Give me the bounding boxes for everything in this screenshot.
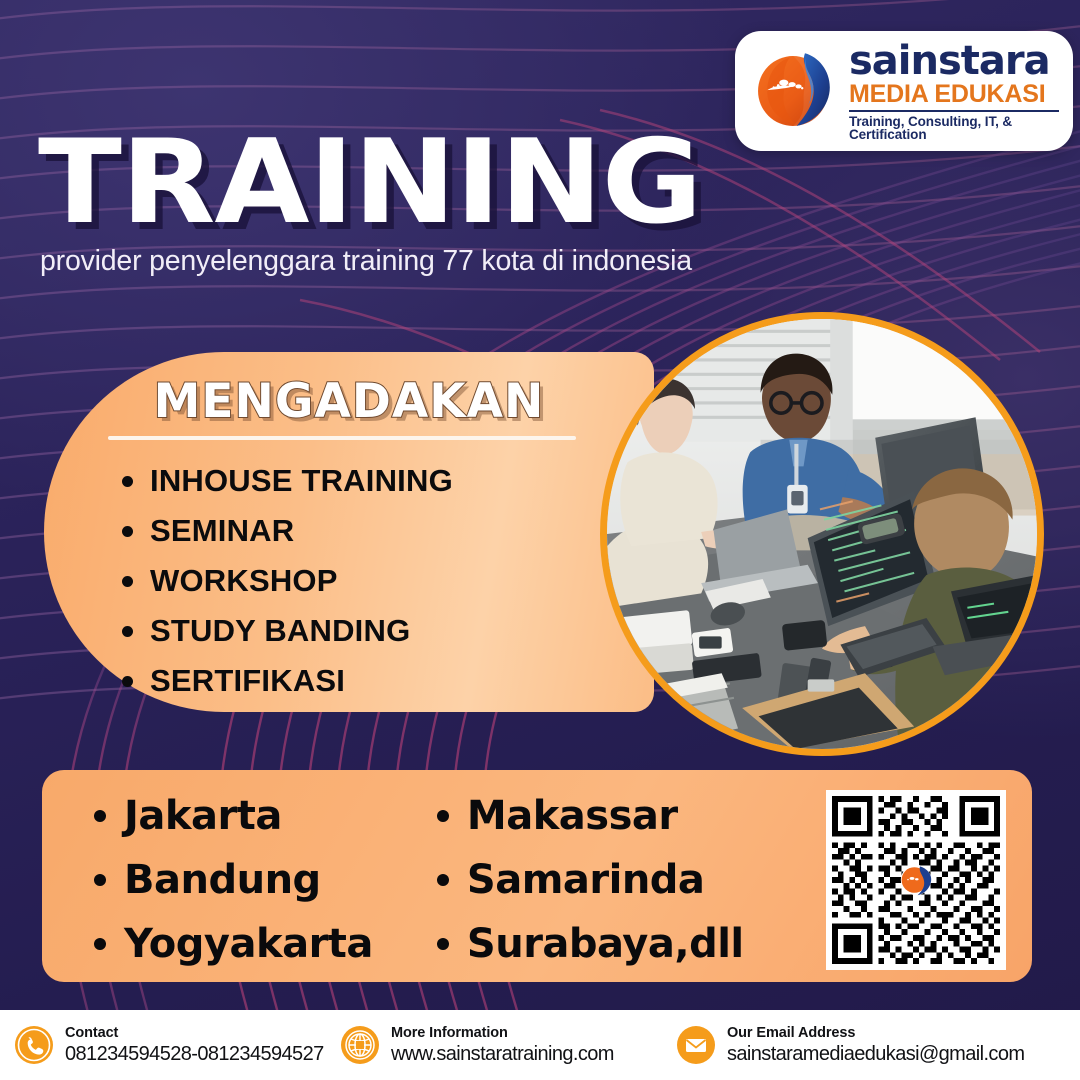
brand-logo-panel: sainstara MEDIA EDUKASI Training, Consul… xyxy=(735,31,1073,151)
footer-email-label: Our Email Address xyxy=(727,1024,1024,1042)
footer-email-item[interactable]: Our Email Address sainstaramediaedukasi@… xyxy=(676,1024,1024,1066)
offer-item-label: WORKSHOP xyxy=(150,563,338,599)
offer-item-label: SERTIFIKASI xyxy=(150,663,345,699)
bullet-dot-icon xyxy=(437,874,449,886)
bullet-dot-icon xyxy=(122,576,133,587)
list-item: STUDY BANDING xyxy=(122,606,634,656)
list-item: Jakarta xyxy=(94,792,373,841)
footer-website-value: www.sainstaratraining.com xyxy=(391,1042,614,1066)
brand-name: sainstara xyxy=(849,41,1059,81)
brand-divider xyxy=(849,110,1059,112)
qr-center-logo-icon xyxy=(896,860,936,900)
footer-website-text: More Information www.sainstaratraining.c… xyxy=(391,1024,614,1066)
list-item: WORKSHOP xyxy=(122,556,634,606)
list-item: Yogyakarta xyxy=(94,920,373,969)
brand-tagline: Training, Consulting, IT, & Certificatio… xyxy=(849,115,1059,142)
footer-contact-label: Contact xyxy=(65,1024,324,1042)
brand-wordmark: sainstara MEDIA EDUKASI Training, Consul… xyxy=(849,41,1059,142)
bullet-dot-icon xyxy=(437,810,449,822)
offer-card: MENGADAKAN INHOUSE TRAINING SEMINAR WORK… xyxy=(44,352,654,712)
city-label: Yogyakarta xyxy=(124,920,373,969)
footer-website-item[interactable]: More Information www.sainstaratraining.c… xyxy=(340,1024,670,1066)
team-photo xyxy=(600,312,1044,756)
bullet-dot-icon xyxy=(437,938,449,950)
list-item: SEMINAR xyxy=(122,506,634,556)
bullet-dot-icon xyxy=(122,626,133,637)
offer-service-list: INHOUSE TRAINING SEMINAR WORKSHOP STUDY … xyxy=(122,456,634,706)
footer-email-value: sainstaramediaedukasi@gmail.com xyxy=(727,1042,1024,1066)
city-label: Jakarta xyxy=(124,792,282,841)
bullet-dot-icon xyxy=(122,526,133,537)
bullet-dot-icon xyxy=(94,938,106,950)
footer-contact-bar: Contact 081234594528-081234594527 xyxy=(0,1010,1080,1080)
cities-column-left: Jakarta Bandung Yogyakarta xyxy=(94,792,373,968)
bullet-dot-icon xyxy=(122,676,133,687)
list-item: Makassar xyxy=(437,792,744,841)
brand-subname: MEDIA EDUKASI xyxy=(849,82,1059,107)
city-label: Makassar xyxy=(467,792,678,841)
footer-contact-value: 081234594528-081234594527 xyxy=(65,1042,324,1066)
cities-column-right: Makassar Samarinda Surabaya,dll xyxy=(437,792,744,968)
footer-contact-item[interactable]: Contact 081234594528-081234594527 xyxy=(14,1024,334,1066)
offer-item-label: STUDY BANDING xyxy=(150,613,410,649)
bullet-dot-icon xyxy=(94,874,106,886)
list-item: INHOUSE TRAINING xyxy=(122,456,634,506)
bullet-dot-icon xyxy=(122,476,133,487)
footer-website-label: More Information xyxy=(391,1024,614,1042)
flame-indonesia-logo-icon xyxy=(747,45,839,137)
offer-card-divider xyxy=(108,436,576,440)
qr-code[interactable] xyxy=(826,790,1006,970)
offer-card-title: MENGADAKAN xyxy=(44,374,654,429)
envelope-icon xyxy=(676,1025,716,1065)
city-label: Surabaya,dll xyxy=(467,920,744,969)
page-subtitle: provider penyelenggara training 77 kota … xyxy=(40,245,692,278)
cities-columns: Jakarta Bandung Yogyakarta Makassar xyxy=(94,792,744,968)
page-title: TRAINING xyxy=(38,125,701,241)
footer-email-text: Our Email Address sainstaramediaedukasi@… xyxy=(727,1024,1024,1066)
poster-canvas: sainstara MEDIA EDUKASI Training, Consul… xyxy=(0,0,1080,1080)
phone-icon xyxy=(14,1025,54,1065)
offer-item-label: INHOUSE TRAINING xyxy=(150,463,453,499)
city-label: Bandung xyxy=(124,856,321,905)
list-item: SERTIFIKASI xyxy=(122,656,634,706)
bullet-dot-icon xyxy=(94,810,106,822)
globe-icon xyxy=(340,1025,380,1065)
footer-contact-text: Contact 081234594528-081234594527 xyxy=(65,1024,324,1066)
city-label: Samarinda xyxy=(467,856,705,905)
list-item: Surabaya,dll xyxy=(437,920,744,969)
list-item: Bandung xyxy=(94,856,373,905)
offer-item-label: SEMINAR xyxy=(150,513,294,549)
list-item: Samarinda xyxy=(437,856,744,905)
